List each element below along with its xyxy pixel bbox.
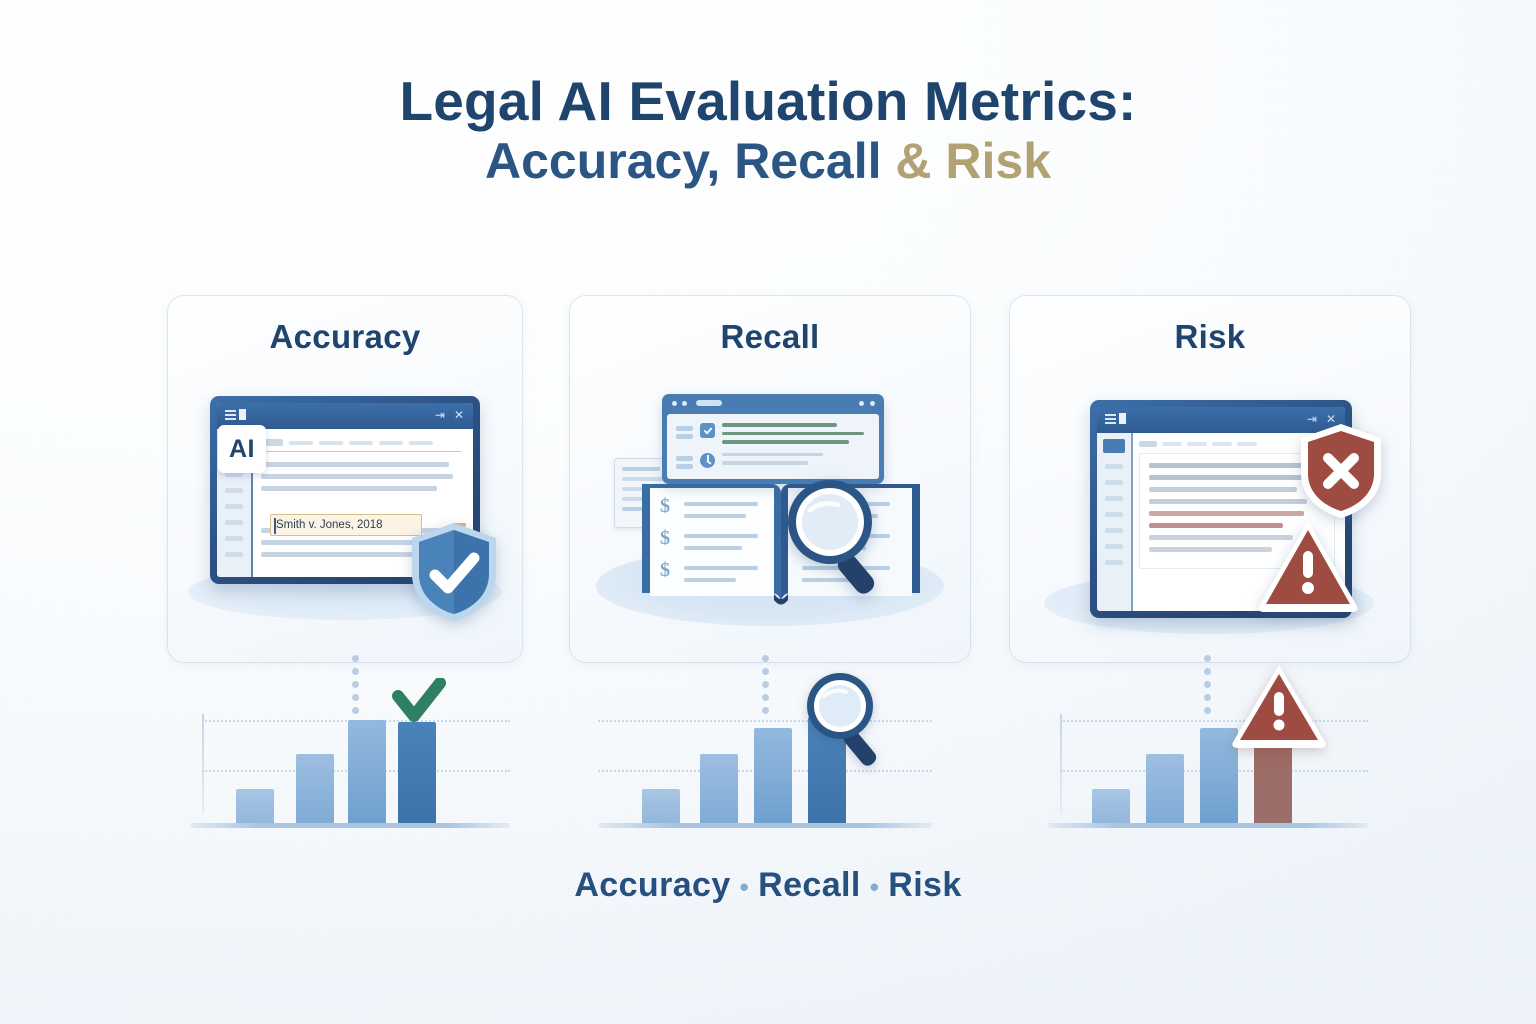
subtitle-main: Accuracy, Recall [485,133,895,189]
chart-dot-indicator [762,655,769,714]
chart-bar [754,728,792,823]
browser-titlebar [662,394,884,412]
window-menu-icon[interactable] [1105,413,1126,424]
chart-baseline [190,823,510,828]
chart-risk [1048,700,1368,828]
hamburger-icon [1105,414,1116,424]
window-dot [672,401,677,406]
clock-pie-icon [700,453,715,468]
close-icon[interactable]: ✕ [454,409,464,421]
page-icon [239,409,246,420]
footer-legend: Accuracy•Recall•Risk [0,866,1536,905]
footer-item-risk: Risk [888,866,961,904]
chart-bar [1146,754,1184,823]
footer-separator: • [861,872,889,902]
subtitle-risk: Risk [932,133,1052,189]
chart-accuracy [190,700,510,828]
svg-text:$: $ [660,495,670,517]
chart-bar [296,754,334,823]
magnifying-glass-icon [780,474,898,602]
window-dot [682,401,687,406]
page-title-line1: Legal AI Evaluation Metrics: [0,72,1536,131]
results-list [667,414,879,479]
window-menu-icon[interactable] [225,409,246,420]
footer-separator: • [731,872,759,902]
footer-item-accuracy: Accuracy [574,866,730,904]
chart-bar [348,720,386,823]
sidebar-pane [1097,433,1131,611]
card-recall-title: Recall [570,318,970,356]
infographic-canvas: Legal AI Evaluation Metrics: Accuracy, R… [0,0,1536,1024]
footer-item-recall: Recall [758,866,861,904]
card-accuracy-title: Accuracy [168,318,522,356]
results-window-recall[interactable] [662,394,884,484]
chart-baseline [598,823,932,828]
chart-baseline [1048,823,1368,828]
risk-flagged-line [1149,511,1304,516]
window-dot [859,401,864,406]
card-recall[interactable]: Recall [570,296,970,662]
shield-x-icon [1298,422,1384,520]
ai-badge: AI [218,425,266,473]
svg-text:$: $ [660,527,670,549]
page-icon [1119,413,1126,424]
citation-highlight: Smith v. Jones, 2018 [270,514,422,536]
card-risk-title: Risk [1010,318,1410,356]
chart-bar [642,789,680,823]
chart-dot-indicator [352,655,359,714]
warning-triangle-icon [1256,518,1360,614]
chart-dot-indicator [1204,655,1211,714]
magnifier-marker-icon [798,668,894,774]
subtitle-ampersand: & [895,133,931,189]
window-controls[interactable]: ⇥ ✕ [435,409,464,421]
chart-recall [612,700,932,828]
check-marker-icon [392,678,446,722]
margin-rule [1131,433,1133,611]
title-block: Legal AI Evaluation Metrics: Accuracy, R… [0,72,1536,192]
card-risk[interactable]: Risk ⇥ ✕ [1010,296,1410,662]
address-pill [696,400,722,406]
hamburger-icon [225,410,236,420]
chart-bar-risk [1254,738,1292,823]
chart-y-axis [202,714,204,814]
chart-bar [1092,789,1130,823]
page-title-line2: Accuracy, Recall & Risk [0,131,1536,192]
chart-bar-highlight [398,722,436,823]
svg-text:$: $ [660,559,670,581]
shield-check-icon [408,520,500,624]
result-row [676,453,870,469]
toolbar-row [261,439,461,446]
result-row [676,423,870,444]
chart-y-axis [1060,714,1062,814]
warning-marker-icon [1230,662,1328,750]
chart-bar [236,789,274,823]
window-dot [870,401,875,406]
minimize-icon[interactable]: ⇥ [435,409,445,421]
card-accuracy[interactable]: Accuracy ⇥ ✕ [168,296,522,662]
chart-bar [700,754,738,823]
checkbox-checked-icon[interactable] [700,423,715,438]
